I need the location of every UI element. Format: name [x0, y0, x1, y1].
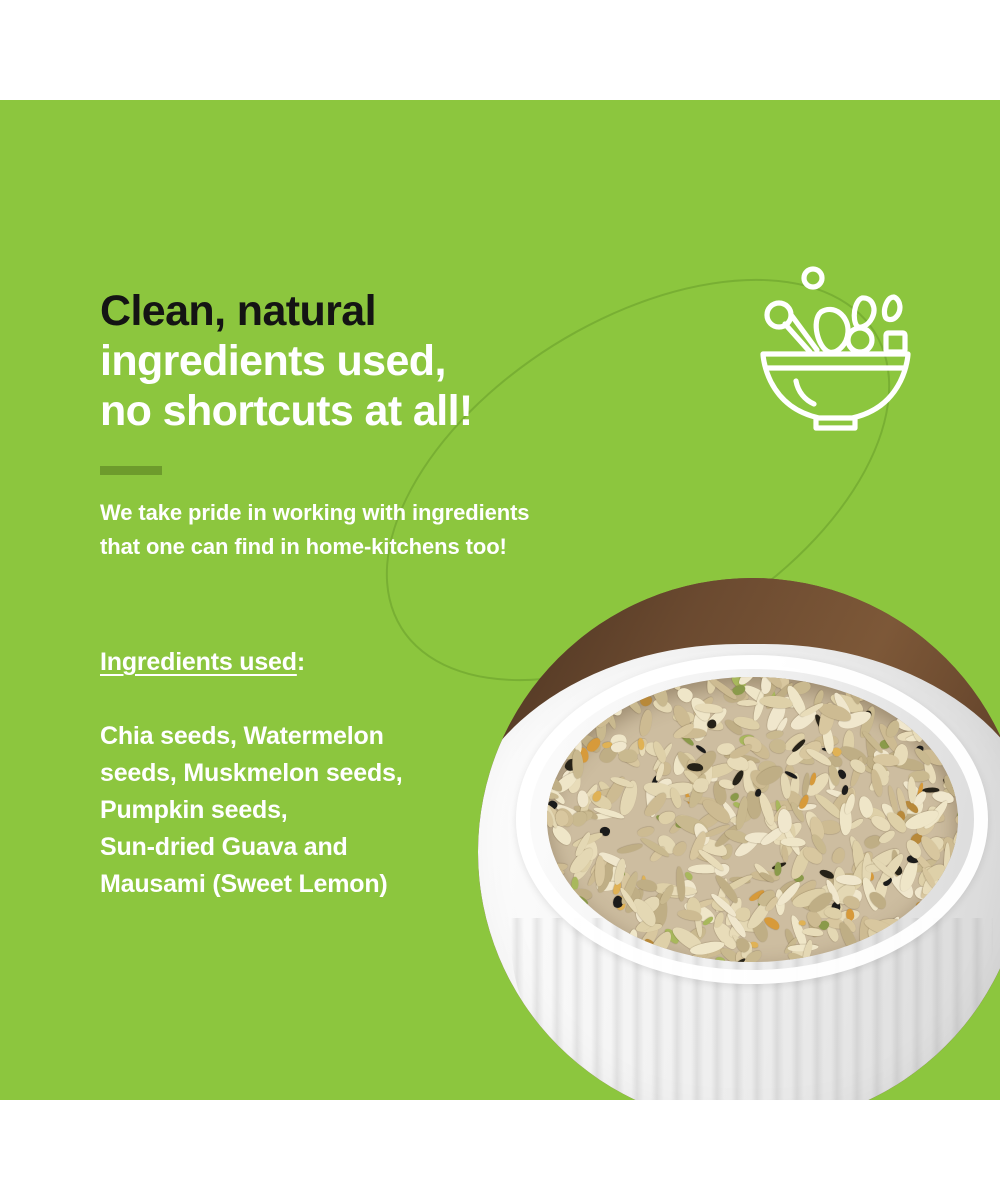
ingredients-line: Mausami (Sweet Lemon) — [100, 866, 500, 903]
product-photo-inner — [478, 578, 1000, 1100]
headline: Clean, natural ingredients used, no shor… — [100, 286, 720, 436]
subtitle: We take pride in working with ingredient… — [100, 496, 680, 564]
bowl-rim — [516, 655, 987, 984]
ingredients-line: Pumpkin seeds, — [100, 792, 500, 829]
divider-bar — [100, 466, 162, 475]
subtitle-line-2: that one can find in home-kitchens too! — [100, 530, 680, 564]
ingredients-list: Chia seeds, Watermelon seeds, Muskmelon … — [100, 718, 500, 903]
ingredients-line: Chia seeds, Watermelon — [100, 718, 500, 755]
promo-poster: Clean, natural ingredients used, no shor… — [0, 0, 1000, 1200]
ingredients-heading-label: Ingredients used — [100, 648, 297, 676]
ingredients-heading-colon: : — [297, 648, 305, 676]
headline-line-2: ingredients used, — [100, 336, 720, 386]
green-background-panel: Clean, natural ingredients used, no shor… — [0, 100, 1000, 1100]
ingredients-line: Sun-dried Guava and — [100, 829, 500, 866]
ingredients-line: seeds, Muskmelon seeds, — [100, 755, 500, 792]
headline-line-3: no shortcuts at all! — [100, 386, 720, 436]
product-photo — [478, 578, 1000, 1100]
salad-bowl-icon — [748, 260, 923, 435]
subtitle-line-1: We take pride in working with ingredient… — [100, 496, 680, 530]
headline-line-1: Clean, natural — [100, 286, 720, 336]
ingredients-heading: Ingredients used: — [100, 648, 305, 677]
